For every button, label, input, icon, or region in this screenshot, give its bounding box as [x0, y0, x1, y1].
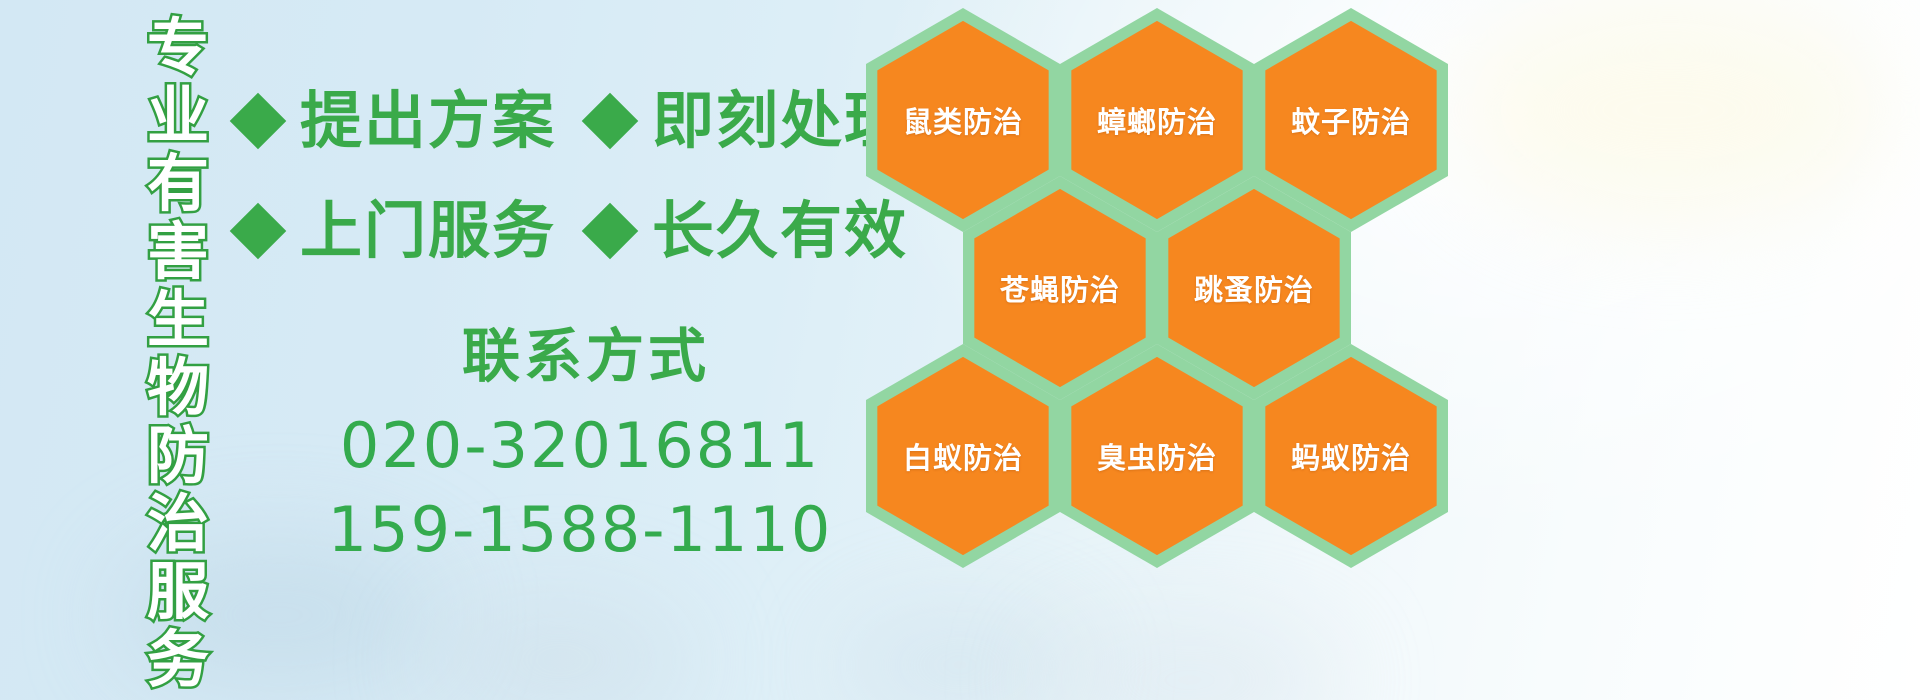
contact-phone-mobile[interactable]: 159-1588-1110 — [300, 488, 860, 572]
vertical-slogan-char: 业 — [147, 82, 209, 150]
feature-row-2: 上门服务 长久有效 — [238, 196, 908, 266]
hex-service-ant[interactable]: 蚂蚁防治 — [1254, 344, 1448, 568]
feature-label: 上门服务 — [300, 196, 556, 266]
background-blob — [430, 600, 690, 700]
diamond-icon — [230, 93, 287, 150]
hex-label: 蚂蚁防治 — [1254, 344, 1448, 568]
hex-label: 臭虫防治 — [1060, 344, 1254, 568]
vertical-slogan-char: 防 — [147, 422, 209, 490]
vertical-slogan-char: 服 — [147, 558, 209, 626]
contact-title: 联系方式 — [312, 318, 860, 394]
contact-phone-landline[interactable]: 020-32016811 — [300, 404, 860, 488]
feature-item-propose-plan: 提出方案 — [238, 86, 556, 156]
vertical-slogan-char: 害 — [147, 218, 209, 286]
vertical-slogan-char: 有 — [147, 150, 209, 218]
service-hexagon-grid: 鼠类防治 蟑螂防治 蚊子防治 苍蝇防治 跳蚤防治 白蚁防治 — [860, 0, 1560, 700]
vertical-slogan-char: 物 — [147, 354, 209, 422]
diamond-icon — [230, 203, 287, 260]
feature-label: 提出方案 — [300, 86, 556, 156]
vertical-slogan-char: 专 — [147, 14, 209, 82]
contact-block: 联系方式 020-32016811 159-1588-1110 — [300, 318, 860, 572]
feature-row-1: 提出方案 即刻处理 — [238, 86, 908, 156]
feature-item-onsite-service: 上门服务 — [238, 196, 556, 266]
vertical-slogan-char: 生 — [147, 286, 209, 354]
banner-canvas: 专 业 有 害 生 物 防 治 服 务 提出方案 即刻处理 上门服务 长久有效 — [0, 0, 1920, 700]
hex-service-bedbug[interactable]: 臭虫防治 — [1060, 344, 1254, 568]
vertical-slogan-char: 务 — [147, 626, 209, 694]
diamond-icon — [582, 93, 639, 150]
vertical-slogan-char: 治 — [147, 490, 209, 558]
vertical-slogan: 专 业 有 害 生 物 防 治 服 务 — [130, 14, 226, 686]
diamond-icon — [582, 203, 639, 260]
hex-label: 白蚁防治 — [866, 344, 1060, 568]
hex-service-termite[interactable]: 白蚁防治 — [866, 344, 1060, 568]
